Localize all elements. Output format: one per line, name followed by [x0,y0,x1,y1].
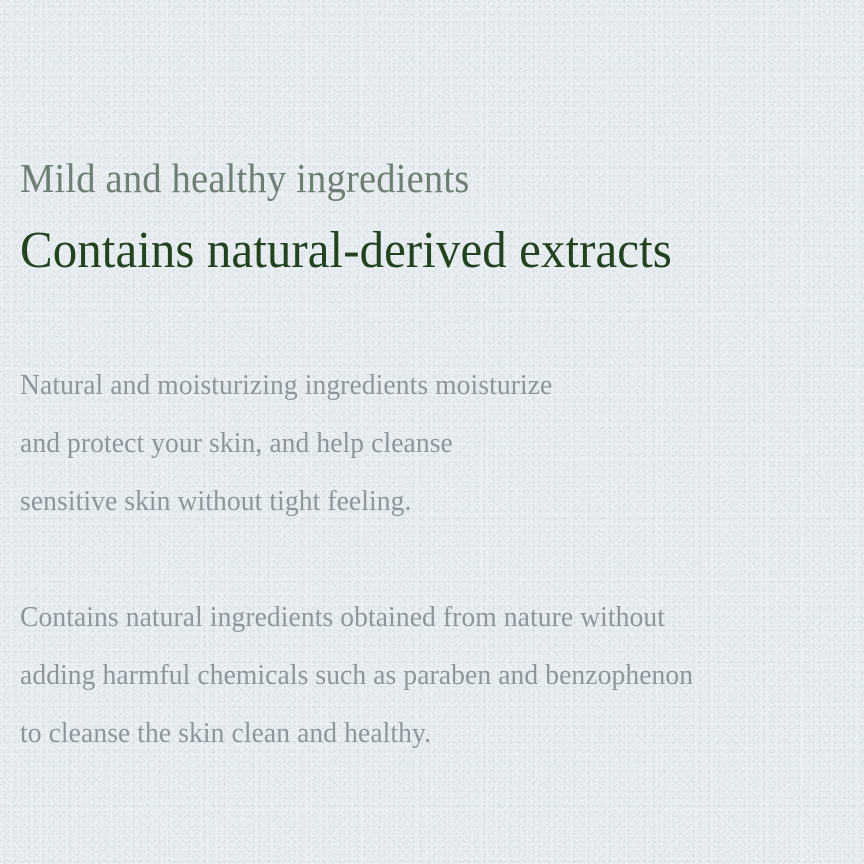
body-line: adding harmful chemicals such as paraben… [20,646,803,704]
body-line: and protect your skin, and help cleanse [20,414,803,472]
body-paragraph-1: Natural and moisturizing ingredients moi… [20,356,803,530]
body-line: Natural and moisturizing ingredients moi… [20,356,803,414]
body-line: Contains natural ingredients obtained fr… [20,588,803,646]
body-line: to cleanse the skin clean and healthy. [20,704,803,762]
eyebrow-heading: Mild and healthy ingredients [20,152,795,204]
ingredients-section: Mild and healthy ingredients Contains na… [0,0,864,864]
body-paragraph-2: Contains natural ingredients obtained fr… [20,588,803,762]
main-heading: Contains natural-derived extracts [20,218,795,284]
heading-block: Mild and healthy ingredients Contains na… [20,0,844,284]
body-copy-block: Natural and moisturizing ingredients moi… [20,356,844,762]
body-line: sensitive skin without tight feeling. [20,472,803,530]
